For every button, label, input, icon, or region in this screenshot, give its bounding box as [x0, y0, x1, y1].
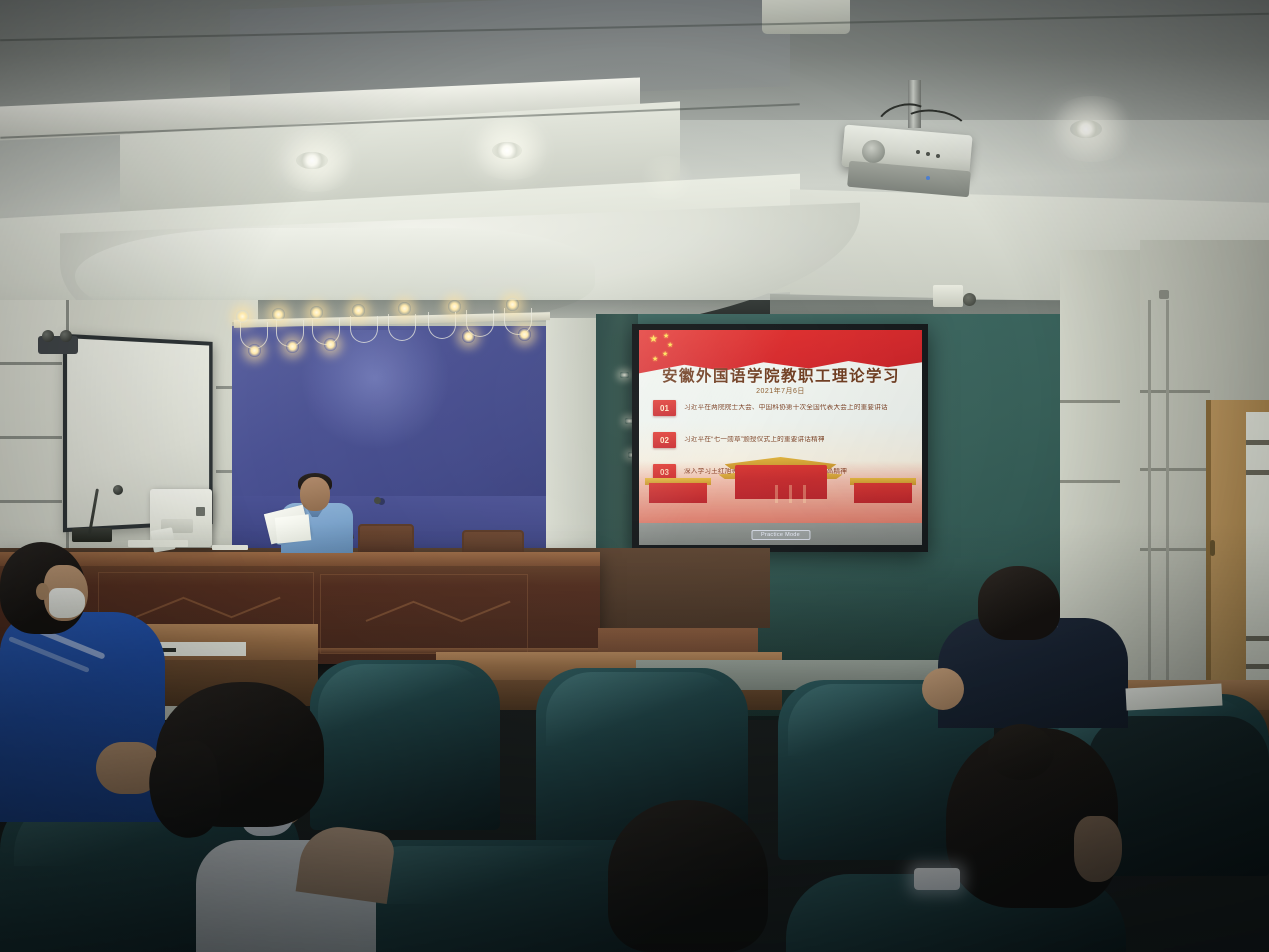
projector-indicator-led	[926, 176, 930, 180]
door-glass-bar-3	[1246, 636, 1269, 641]
wall-sensor	[1159, 290, 1169, 299]
string-light-8	[398, 302, 411, 315]
slide-building-illustration	[639, 461, 922, 523]
attendee-left-face-mask	[49, 588, 85, 618]
wall-right-seam-v-1	[1166, 300, 1169, 720]
string-light-1	[236, 310, 249, 323]
string-light-6	[324, 338, 337, 351]
head-table-paper-1	[128, 540, 188, 547]
downlight-3	[1070, 120, 1102, 138]
building-column-2	[789, 485, 792, 503]
wall-fixture-box	[933, 285, 963, 307]
flag-star-icon-2: ★	[663, 333, 669, 340]
string-light-9	[448, 300, 461, 313]
slide-title: 安徽外国语学院教职工理论学习	[651, 364, 911, 386]
flag-star-icon-1: ★	[649, 336, 658, 343]
attendee-center-head	[608, 800, 768, 952]
string-light-2	[248, 344, 261, 357]
agenda-item-text: 习近平在“七一勋章”颁授仪式上的重要讲话精神	[684, 436, 825, 443]
head-table-paper-2	[212, 545, 248, 550]
presenter-document-2	[275, 514, 312, 543]
wall-left-seam-3	[0, 500, 62, 503]
projector-vent-2	[926, 152, 930, 156]
building-wing-left	[649, 483, 707, 503]
agenda-number-badge: 01	[653, 400, 676, 416]
attendee-right-head	[978, 566, 1060, 640]
downlight-1	[296, 152, 328, 169]
string-light-wire-5	[388, 314, 416, 341]
stage-backdrop-highlight	[300, 330, 450, 450]
building-column-1	[775, 485, 778, 503]
wall-right-seam-v-2	[1148, 300, 1151, 720]
string-light-12	[518, 328, 531, 341]
attendee-front-shoulder	[296, 822, 397, 904]
wall-right-seam-4	[1060, 400, 1120, 403]
downlight-2	[492, 142, 522, 159]
wall-left-seam-1	[0, 362, 62, 365]
microphone-capsule-icon-2	[374, 497, 381, 504]
string-light-11	[506, 298, 519, 311]
camera-lens-icon	[42, 330, 54, 342]
attendee-bottom-right-face	[1074, 816, 1122, 882]
string-light-wire-6	[428, 312, 456, 339]
building-wing-right	[854, 483, 912, 503]
flag-star-icon-4: ★	[662, 351, 668, 358]
string-light-wire-4	[350, 316, 378, 343]
surveillance-camera	[38, 336, 78, 354]
string-light-4	[286, 340, 299, 353]
projection-screen: ★ ★ ★ ★ ★ 安徽外国语学院教职工理论学习 2021年7月6日 01 习近…	[639, 330, 922, 545]
door-glass-bar-4	[1246, 664, 1269, 669]
flag-star-icon-3: ★	[667, 342, 673, 349]
stage-frame-right	[546, 318, 598, 568]
head-table-top	[0, 552, 600, 566]
agenda-number-badge: 02	[653, 432, 676, 448]
slide-mode-button[interactable]: Practice Mode	[751, 530, 810, 540]
wall-left-seam-2	[0, 436, 62, 439]
attendee-left-ear	[36, 583, 49, 600]
building-column-3	[803, 485, 806, 503]
presenter-head	[300, 477, 330, 511]
conference-hall-photo: ★ ★ ★ ★ ★ 安徽外国语学院教职工理论学习 2021年7月6日 01 习近…	[0, 0, 1269, 952]
auditorium-seat-2-highlight	[546, 672, 738, 746]
head-table-panel-2	[320, 574, 528, 654]
slide-date: 2021年7月6日	[639, 386, 922, 396]
string-light-7	[352, 304, 365, 317]
projector-vent-3	[936, 154, 940, 158]
string-light-3	[272, 308, 285, 321]
presentation-slide: ★ ★ ★ ★ ★ 安徽外国语学院教职工理论学习 2021年7月6日 01 习近…	[639, 330, 922, 545]
wall-teal-lamp-1	[620, 372, 629, 378]
slide-agenda-item: 01 习近平在两院院士大会、中国科协第十次全国代表大会上的重要讲话	[653, 400, 911, 416]
wall-speaker-icon	[963, 293, 976, 306]
downlight-glow-4	[636, 156, 698, 200]
projector-vent-1	[916, 150, 920, 154]
wall-right-seam-5	[1060, 480, 1120, 483]
microphone-capsule-icon	[113, 485, 123, 495]
door-handle[interactable]	[1210, 540, 1215, 556]
building-main-body	[735, 465, 827, 499]
agenda-item-text: 习近平在两院院士大会、中国科协第十次全国代表大会上的重要讲话	[684, 404, 888, 411]
smartphone-screen[interactable]	[914, 868, 960, 890]
ceiling-duct	[762, 0, 850, 34]
flag-star-icon-5: ★	[652, 356, 658, 363]
door-glass-panel	[1246, 412, 1269, 702]
attendee-right-arm	[922, 668, 964, 710]
microphone-base	[72, 528, 112, 542]
string-light-5	[310, 306, 323, 319]
auditorium-seat-1-highlight	[318, 664, 490, 734]
monitor-port	[196, 507, 205, 516]
attendee-bottom-right-hair-bun	[988, 724, 1054, 780]
slide-agenda-item: 02 习近平在“七一勋章”颁授仪式上的重要讲话精神	[653, 432, 911, 448]
door-glass-bar-2	[1246, 470, 1269, 475]
string-light-10	[462, 330, 475, 343]
door-glass-bar-1	[1246, 440, 1269, 445]
camera-lens-icon-2	[60, 330, 72, 342]
